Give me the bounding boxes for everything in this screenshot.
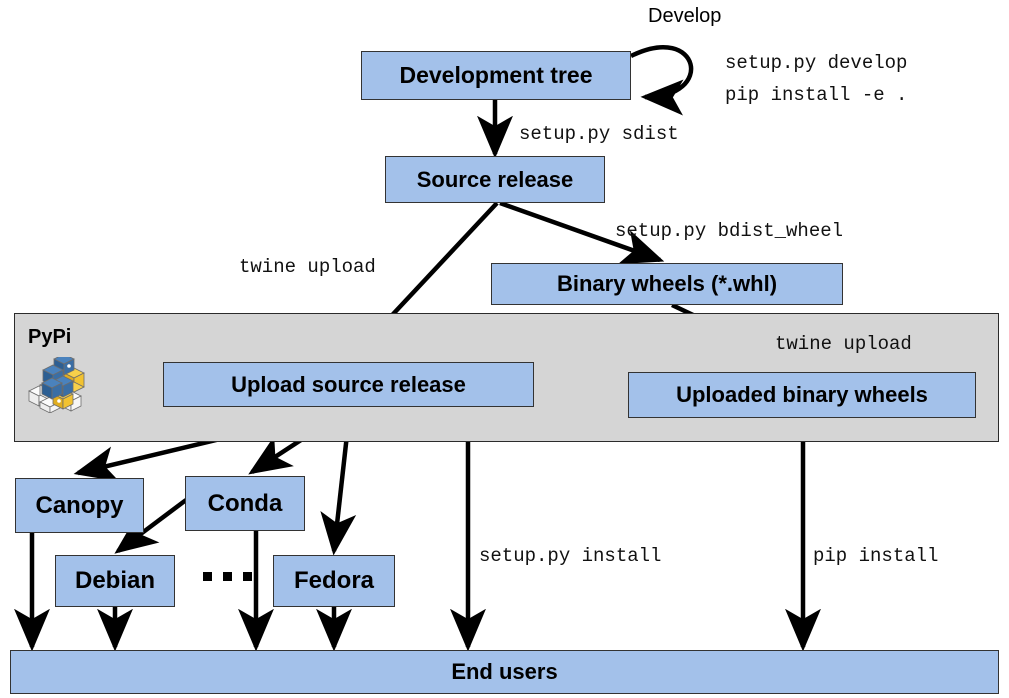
ellipsis-dot — [203, 572, 212, 581]
edge-dev-self-loop — [631, 47, 691, 97]
pypi-region-label: PyPi — [28, 326, 71, 349]
node-canopy[interactable]: Canopy — [15, 478, 144, 533]
node-label: Conda — [208, 490, 283, 518]
edge-label-twine-upload-whl: twine upload — [775, 333, 912, 355]
edge-label-pip-install: pip install — [813, 545, 938, 567]
node-label: Fedora — [294, 567, 374, 595]
node-label: Uploaded binary wheels — [676, 382, 928, 408]
node-debian[interactable]: Debian — [55, 555, 175, 607]
node-conda[interactable]: Conda — [185, 476, 305, 531]
node-source-release[interactable]: Source release — [385, 156, 605, 203]
edge-label-setup-sdist: setup.py sdist — [519, 123, 679, 145]
edge-label-setup-install: setup.py install — [479, 545, 661, 567]
more-distros-ellipsis — [203, 572, 252, 581]
node-label: Upload source release — [231, 372, 466, 398]
node-binary-wheels[interactable]: Binary wheels (*.whl) — [491, 263, 843, 305]
node-label: End users — [451, 659, 557, 685]
packaging-flow-diagram: PyPi — [0, 0, 1009, 698]
edge-label-setup-bdist-wheel: setup.py bdist_wheel — [615, 220, 843, 242]
ellipsis-dot — [243, 572, 252, 581]
node-label: Canopy — [35, 492, 123, 520]
node-label: Binary wheels (*.whl) — [557, 271, 777, 297]
node-fedora[interactable]: Fedora — [273, 555, 395, 607]
node-end-users[interactable]: End users — [10, 650, 999, 694]
edge-label-pip-install-e: pip install -e . — [725, 84, 907, 106]
edge-label-twine-upload-src: twine upload — [239, 256, 376, 278]
node-label: Development tree — [399, 62, 592, 89]
ellipsis-dot — [223, 572, 232, 581]
node-label: Source release — [417, 167, 574, 193]
node-label: Debian — [75, 567, 155, 595]
edge-label-setup-develop: setup.py develop — [725, 52, 907, 74]
node-dev-tree[interactable]: Development tree — [361, 51, 631, 100]
node-upload-source[interactable]: Upload source release — [163, 362, 534, 407]
node-uploaded-wheels[interactable]: Uploaded binary wheels — [628, 372, 976, 418]
edge-label-develop: Develop — [648, 5, 721, 28]
python-cubes-logo — [26, 357, 88, 418]
